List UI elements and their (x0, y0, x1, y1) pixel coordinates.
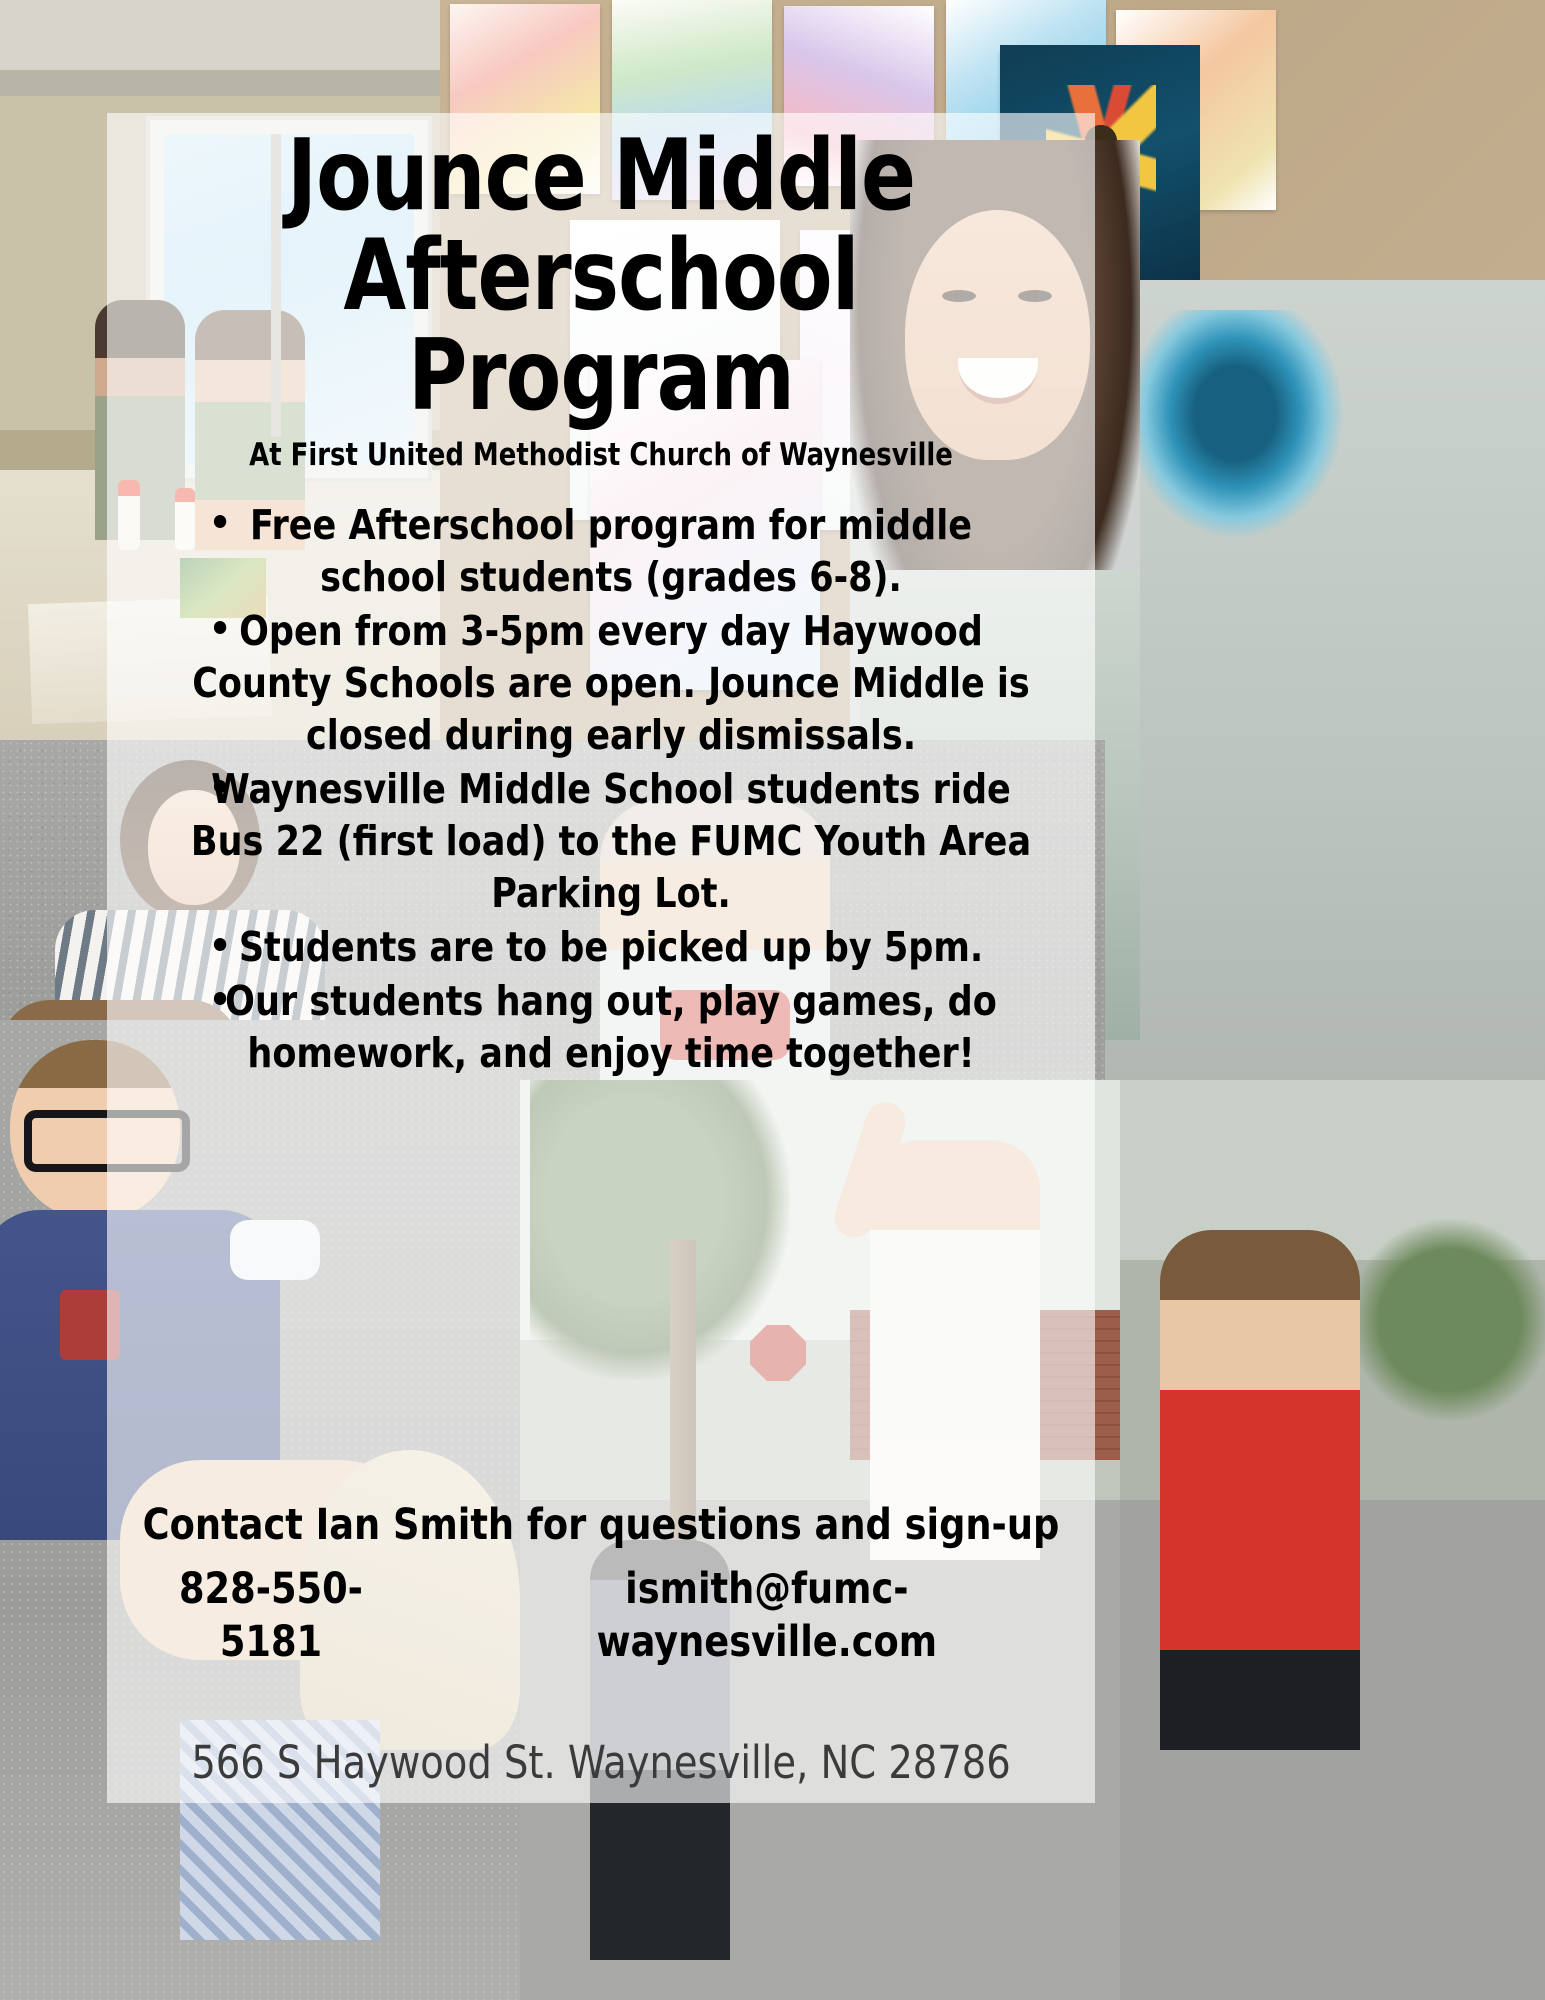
list-item-text: Waynesville Middle School students ride … (191, 765, 1031, 917)
list-item-text: Our students hang out, play games, do ho… (225, 977, 997, 1077)
shrub (1350, 1220, 1545, 1420)
list-item-text: Students are to be picked up by 5pm. (239, 923, 983, 971)
list-item-text: Open from 3-5pm every day Haywood County… (192, 607, 1030, 759)
butterfly-icon (1125, 310, 1345, 540)
bullet-dot-icon (214, 938, 226, 951)
list-item: Students are to be picked up by 5pm. (174, 921, 1048, 973)
program-details-list: Free Afterschool program for middle scho… (107, 499, 1095, 1080)
bullet-dot-icon (214, 621, 226, 634)
page-subtitle: At First United Methodist Church of Wayn… (142, 437, 1061, 473)
list-item-text: Free Afterschool program for middle scho… (250, 501, 972, 601)
student-figure (1160, 1230, 1360, 1750)
list-item: Free Afterschool program for middle scho… (174, 499, 1048, 603)
contact-section: Contact Ian Smith for questions and sign… (107, 1500, 1095, 1789)
page-title: Jounce Middle Afterschool Program (147, 113, 1056, 427)
venue-address: 566 S Haywood St. Waynesville, NC 28786 (132, 1736, 1071, 1789)
contact-phone[interactable]: 828-550-5181 (132, 1563, 411, 1671)
bullet-dot-icon (214, 515, 226, 528)
title-line-2: Afterschool Program (343, 219, 858, 433)
flyer-content: Jounce Middle Afterschool Program At Fir… (107, 113, 1095, 1082)
list-item: Our students hang out, play games, do ho… (174, 975, 1048, 1079)
contact-heading: Contact Ian Smith for questions and sign… (132, 1500, 1071, 1551)
list-item: Open from 3-5pm every day Haywood County… (174, 605, 1048, 761)
list-item: Waynesville Middle School students ride … (174, 763, 1048, 919)
photo-butterfly-art (1105, 280, 1545, 1080)
window-mullion (271, 134, 281, 437)
contact-details: 828-550-5181 ismith@fumc-waynesville.com (132, 1563, 1071, 1671)
contact-email[interactable]: ismith@fumc-waynesville.com (463, 1563, 1070, 1671)
title-line-1: Jounce Middle (287, 119, 915, 233)
flyer-poster: Jounce Middle Afterschool Program At Fir… (0, 0, 1545, 2000)
photo-student-in-red (1120, 1080, 1545, 2000)
